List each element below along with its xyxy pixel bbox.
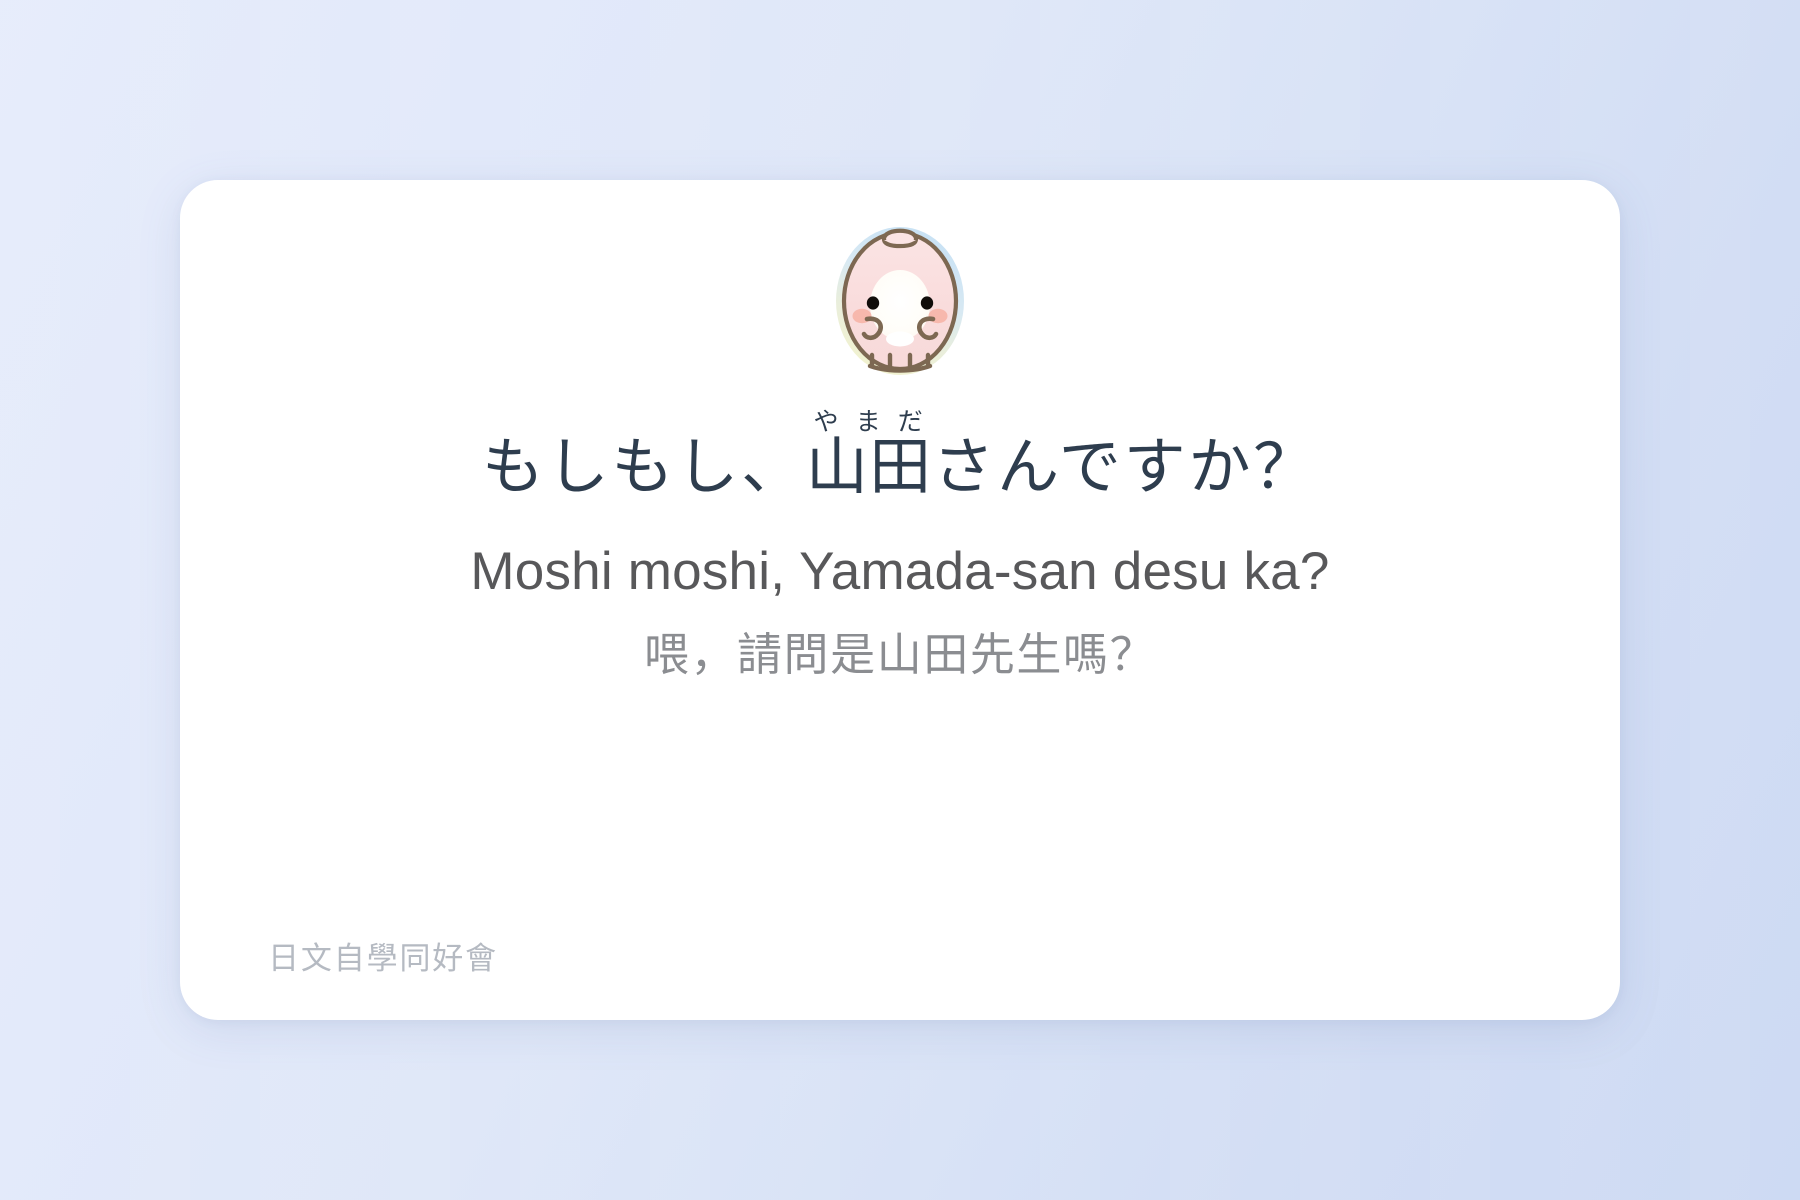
flashcard: もしもし、山田やまださんですか？ Moshi moshi, Yamada-san… [180,180,1620,1020]
romaji-sentence: Moshi moshi, Yamada-san desu ka? [228,540,1572,604]
mascot-avatar-icon [814,213,986,385]
mascot-right-eye [921,296,933,309]
japanese-kanji: 山田 [806,430,932,503]
avatar-container [180,213,1620,385]
sentence-block: もしもし、山田やまださんですか？ Moshi moshi, Yamada-san… [180,408,1620,684]
japanese-suffix: さんですか？ [932,430,1318,503]
japanese-prefix: もしもし、 [482,430,806,503]
japanese-kanji-with-furigana: 山田やまだ [806,430,932,503]
mascot-left-eye [867,296,879,309]
footer: 日文自學同好會 [268,941,498,978]
japanese-furigana: やまだ [806,407,932,436]
japanese-sentence: もしもし、山田やまださんですか？ [228,408,1572,506]
footer-attribution: 日文自學同好會 [268,941,498,978]
chinese-translation: 喂，請問是山田先生嗎？ [228,627,1572,683]
mascot-mouth [886,332,914,347]
